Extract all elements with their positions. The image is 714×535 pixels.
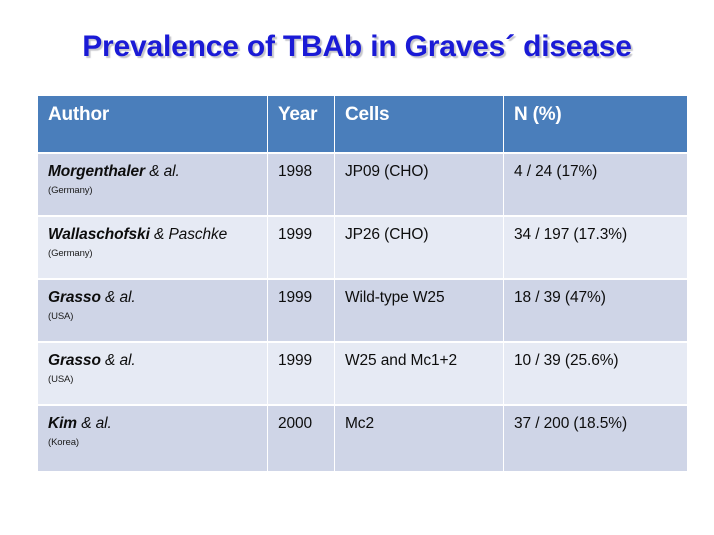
table-row: Kim & al. (Korea) 2000 Mc2 37 / 200 (18.… xyxy=(38,406,687,471)
author-line: Grasso & al. xyxy=(48,289,267,307)
cell-year: 1999 xyxy=(268,280,334,341)
author-country: (Germany) xyxy=(48,184,267,198)
page-title: Prevalence of TBAb in Graves´ disease xyxy=(0,28,714,66)
author-surname: Grasso xyxy=(48,352,101,369)
cell-author: Kim & al. (Korea) xyxy=(38,406,267,471)
column-header-n-percent: N (%) xyxy=(504,96,687,152)
column-header-author: Author xyxy=(38,96,267,152)
cell-author: Grasso & al. (USA) xyxy=(38,280,267,341)
author-suffix: & al. xyxy=(77,415,112,432)
slide-canvas: Prevalence of TBAb in Graves´ disease Au… xyxy=(0,0,714,535)
author-surname: Grasso xyxy=(48,289,101,306)
author-suffix: & al. xyxy=(145,163,180,180)
title-part-in: in xyxy=(362,30,405,63)
cell-year: 2000 xyxy=(268,406,334,471)
cell-cells: Wild-type W25 xyxy=(335,280,503,341)
cell-year: 1998 xyxy=(268,154,334,215)
author-suffix: & al. xyxy=(101,289,136,306)
author-country: (Korea) xyxy=(48,436,267,450)
title-part-graves-disease: Graves´ disease xyxy=(405,30,632,63)
column-header-year: Year xyxy=(268,96,334,152)
table-header: Author Year Cells N (%) xyxy=(38,96,687,152)
author-surname: Wallaschofski xyxy=(48,226,150,243)
table-row: Grasso & al. (USA) 1999 Wild-type W25 18… xyxy=(38,280,687,341)
table-row: Wallaschofski & Paschke (Germany) 1999 J… xyxy=(38,217,687,278)
title-part-prevalence: Prevalence xyxy=(82,30,238,63)
table-header-row: Author Year Cells N (%) xyxy=(38,96,687,152)
cell-n-percent: 10 / 39 (25.6%) xyxy=(504,343,687,404)
cell-author: Wallaschofski & Paschke (Germany) xyxy=(38,217,267,278)
prevalence-table-container: Author Year Cells N (%) Morgenthaler & a… xyxy=(37,94,686,473)
author-line: Morgenthaler & al. xyxy=(48,163,267,181)
author-line: Wallaschofski & Paschke xyxy=(48,226,267,244)
column-header-cells: Cells xyxy=(335,96,503,152)
cell-n-percent: 34 / 197 (17.3%) xyxy=(504,217,687,278)
author-country: (USA) xyxy=(48,373,267,387)
author-suffix: & Paschke xyxy=(150,226,227,243)
author-surname: Kim xyxy=(48,415,77,432)
cell-cells: JP26 (CHO) xyxy=(335,217,503,278)
cell-cells: W25 and Mc1+2 xyxy=(335,343,503,404)
table-row: Grasso & al. (USA) 1999 W25 and Mc1+2 10… xyxy=(38,343,687,404)
author-suffix: & al. xyxy=(101,352,136,369)
cell-cells: JP09 (CHO) xyxy=(335,154,503,215)
cell-cells: Mc2 xyxy=(335,406,503,471)
table-row: Morgenthaler & al. (Germany) 1998 JP09 (… xyxy=(38,154,687,215)
author-country: (USA) xyxy=(48,310,267,324)
author-line: Kim & al. xyxy=(48,415,267,433)
title-part-of: of xyxy=(239,30,283,63)
author-country: (Germany) xyxy=(48,247,267,261)
prevalence-table: Author Year Cells N (%) Morgenthaler & a… xyxy=(37,94,688,473)
cell-n-percent: 18 / 39 (47%) xyxy=(504,280,687,341)
cell-n-percent: 37 / 200 (18.5%) xyxy=(504,406,687,471)
table-body: Morgenthaler & al. (Germany) 1998 JP09 (… xyxy=(38,154,687,471)
title-part-tbab: TBAb xyxy=(283,30,362,63)
cell-author: Grasso & al. (USA) xyxy=(38,343,267,404)
cell-author: Morgenthaler & al. (Germany) xyxy=(38,154,267,215)
cell-n-percent: 4 / 24 (17%) xyxy=(504,154,687,215)
cell-year: 1999 xyxy=(268,217,334,278)
cell-year: 1999 xyxy=(268,343,334,404)
author-surname: Morgenthaler xyxy=(48,163,145,180)
author-line: Grasso & al. xyxy=(48,352,267,370)
